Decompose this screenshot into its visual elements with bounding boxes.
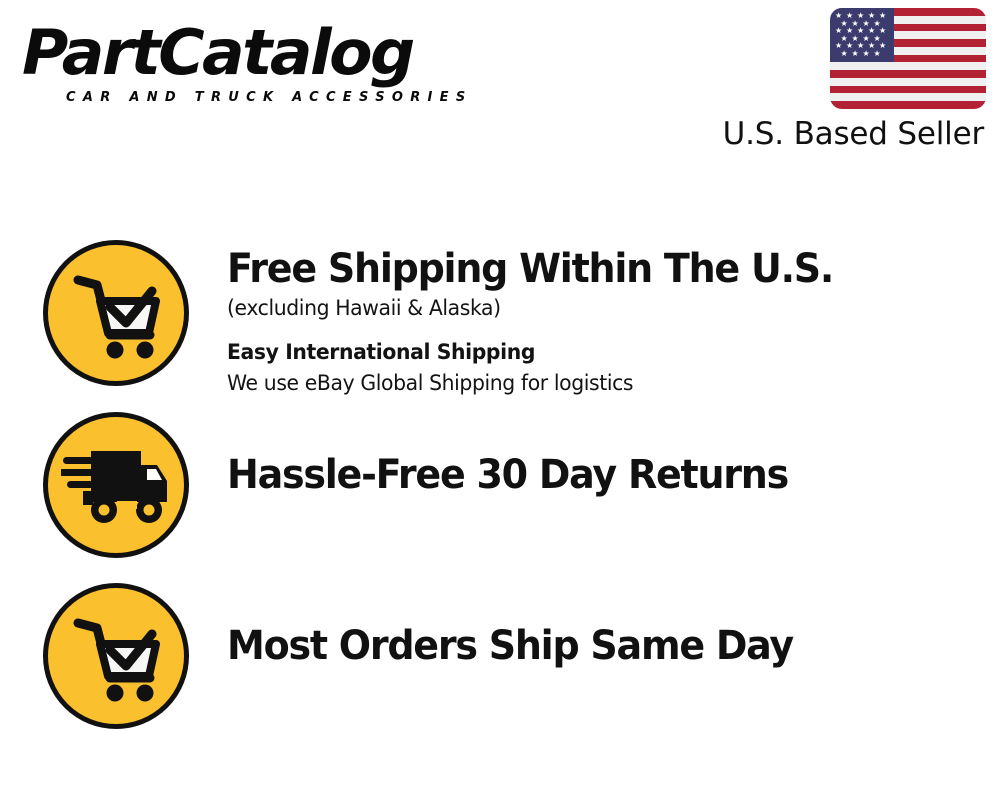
us-based-seller-badge: ★ ★ ★ ★ ★ ★ ★ ★ ★ ★ ★ ★ ★ ★ ★ ★ ★ ★ ★ ★ … [716, 8, 986, 152]
feature-subtitle: Easy International Shipping [227, 337, 977, 367]
feature-title: Free Shipping Within The U.S. [227, 246, 961, 292]
brand-tagline: CAR AND TRUCK ACCESSORIES [66, 90, 473, 105]
feature-text-same-day-ship: Most Orders Ship Same Day [189, 583, 1000, 669]
feature-text-returns: Hassle-Free 30 Day Returns [189, 412, 1000, 498]
feature-title: Hassle-Free 30 Day Returns [227, 452, 961, 498]
feature-subnote: We use eBay Global Shipping for logistic… [227, 368, 977, 398]
feature-title: Most Orders Ship Same Day [227, 623, 961, 669]
shopping-cart-check-icon [43, 583, 189, 729]
us-based-seller-label: U.S. Based Seller [716, 116, 984, 152]
feature-row-same-day-ship: Most Orders Ship Same Day [0, 583, 1000, 729]
shopping-cart-check-icon [43, 240, 189, 386]
feature-text-free-shipping: Free Shipping Within The U.S. (excluding… [189, 240, 1000, 398]
feature-row-free-shipping: Free Shipping Within The U.S. (excluding… [0, 240, 1000, 398]
brand-logo[interactable]: PartCatalog CAR AND TRUCK ACCESSORIES [22, 20, 492, 115]
us-flag-icon: ★ ★ ★ ★ ★ ★ ★ ★ ★ ★ ★ ★ ★ ★ ★ ★ ★ ★ ★ ★ … [830, 8, 986, 109]
page-header: PartCatalog CAR AND TRUCK ACCESSORIES ★ … [0, 0, 1000, 175]
delivery-truck-icon [43, 412, 189, 558]
brand-wordmark: PartCatalog [22, 20, 501, 86]
feature-note: (excluding Hawaii & Alaska) [227, 293, 977, 323]
feature-row-returns: Hassle-Free 30 Day Returns [0, 412, 1000, 558]
